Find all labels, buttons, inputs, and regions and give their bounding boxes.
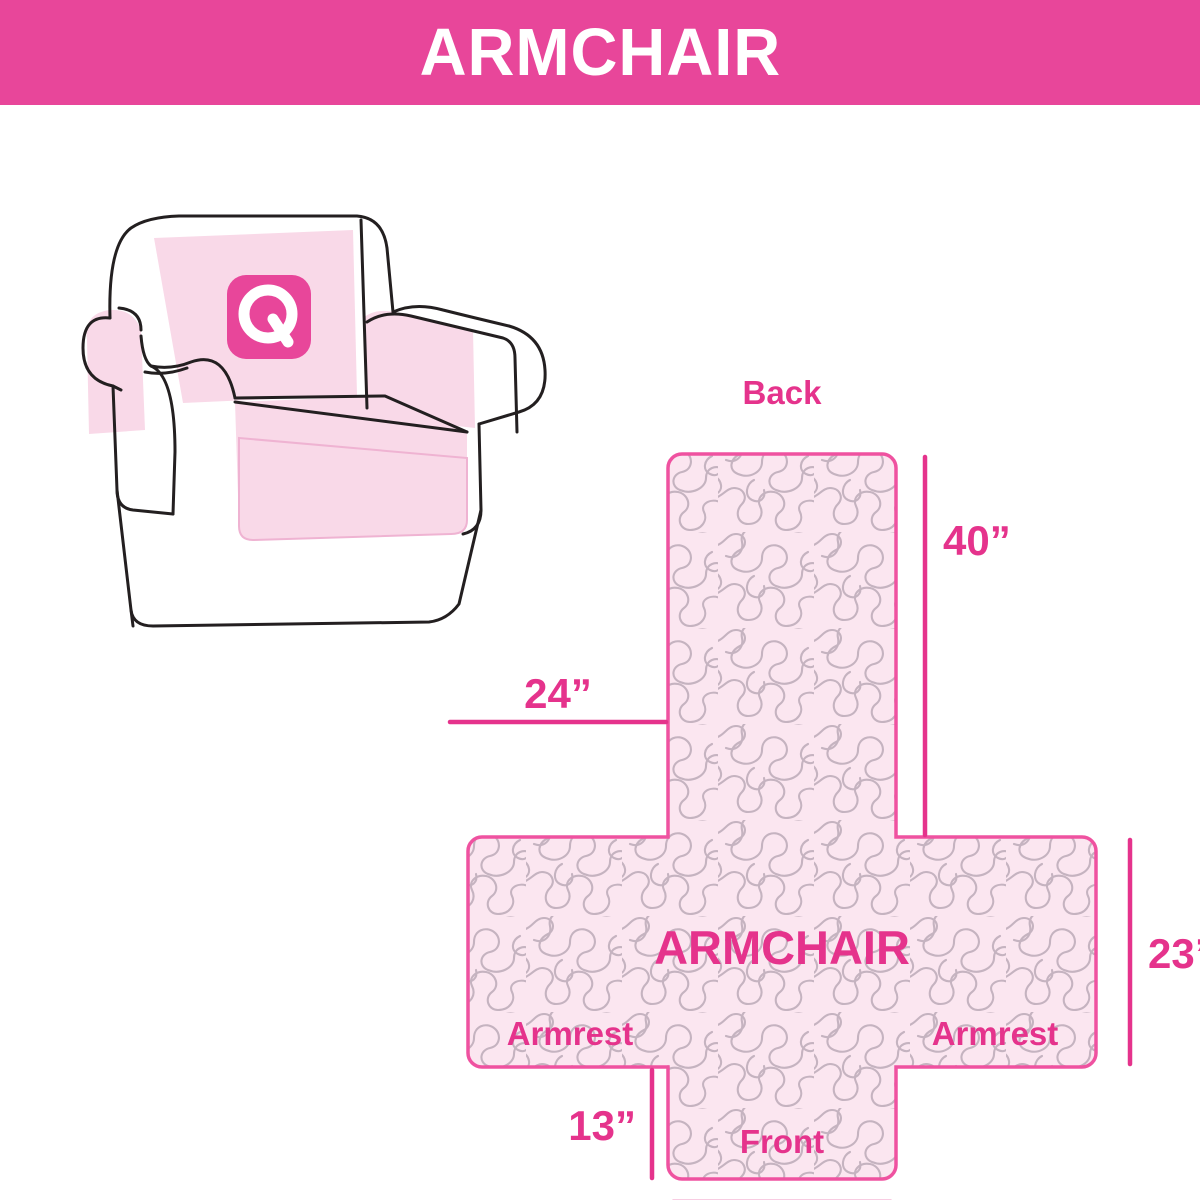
panel-label-front: Front	[740, 1123, 824, 1160]
dimension-back-height: 40”	[943, 517, 1011, 564]
header-banner: ARMCHAIR	[0, 0, 1200, 105]
product-label-armchair: ARMCHAIR	[654, 921, 910, 974]
brand-logo-badge	[227, 275, 311, 359]
panel-label-armrest-left: Armrest	[507, 1015, 634, 1052]
page-title: ARMCHAIR	[419, 19, 781, 86]
dimension-back-width: 24”	[524, 670, 592, 717]
dimension-armrest-depth: 23”	[1148, 930, 1200, 977]
diagram-canvas: Back ARMCHAIR Armrest Armrest Front 40”	[0, 105, 1200, 1200]
flat-pattern-diagram: Back ARMCHAIR Armrest Armrest Front 40”	[430, 340, 1200, 1200]
panel-label-back: Back	[743, 374, 823, 411]
panel-label-armrest-right: Armrest	[932, 1015, 1059, 1052]
chair-left-arm-fill	[86, 310, 145, 434]
dimension-front-height: 13”	[568, 1102, 636, 1149]
